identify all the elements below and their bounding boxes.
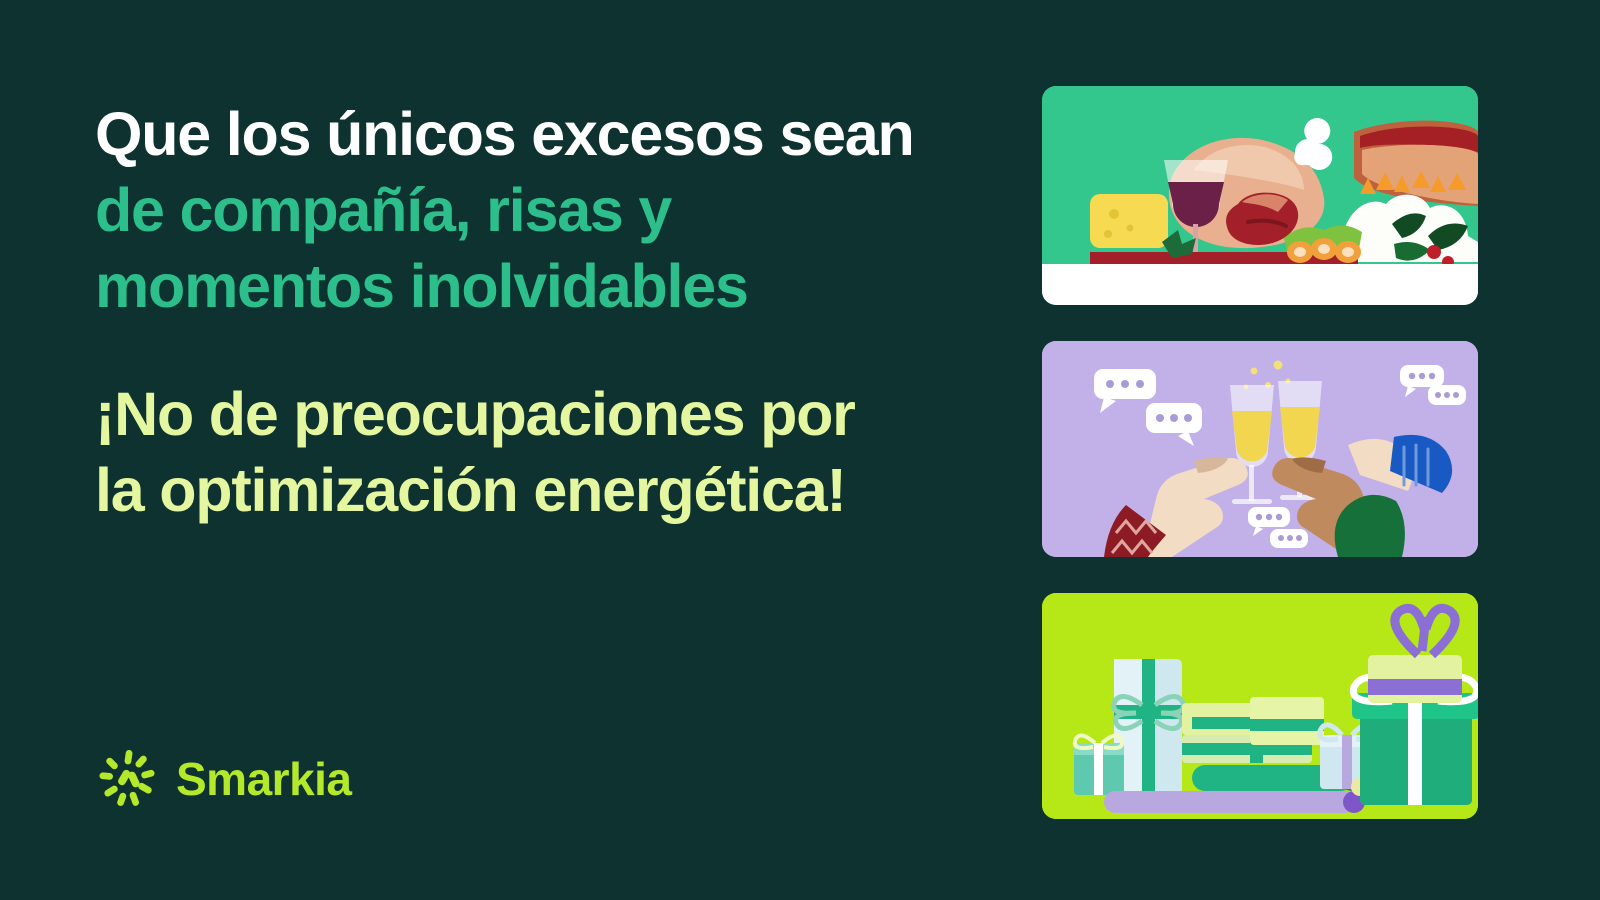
champagne-toast-illustration bbox=[1042, 341, 1478, 557]
christmas-gifts-illustration bbox=[1042, 593, 1478, 819]
headline-line-3: momentos inolvidables bbox=[95, 248, 995, 324]
illustration-card-stack bbox=[1042, 86, 1478, 819]
logo-wordmark: Smarkia bbox=[176, 756, 352, 802]
poster-canvas: Que los únicos excesos sean de compañía,… bbox=[0, 0, 1600, 900]
subheadline: ¡No de preocupaciones por la optimizació… bbox=[95, 324, 995, 528]
brand-logo[interactable]: Smarkia bbox=[98, 748, 352, 810]
christmas-gifts-card bbox=[1042, 593, 1478, 819]
christmas-feast-illustration bbox=[1042, 86, 1478, 305]
headline-line-2: de compañía, risas y bbox=[95, 172, 995, 248]
champagne-toast-card bbox=[1042, 341, 1478, 557]
copy-block: Que los únicos excesos sean de compañía,… bbox=[95, 96, 995, 528]
headline-line-1: Que los únicos excesos sean bbox=[95, 96, 995, 172]
page-title: Que los únicos excesos sean de compañía,… bbox=[95, 96, 995, 324]
christmas-feast-card bbox=[1042, 86, 1478, 305]
subheadline-line-2: la optimización energética! bbox=[95, 452, 995, 528]
subheadline-line-1: ¡No de preocupaciones por bbox=[95, 376, 995, 452]
smarkia-sunburst-icon bbox=[98, 748, 160, 810]
